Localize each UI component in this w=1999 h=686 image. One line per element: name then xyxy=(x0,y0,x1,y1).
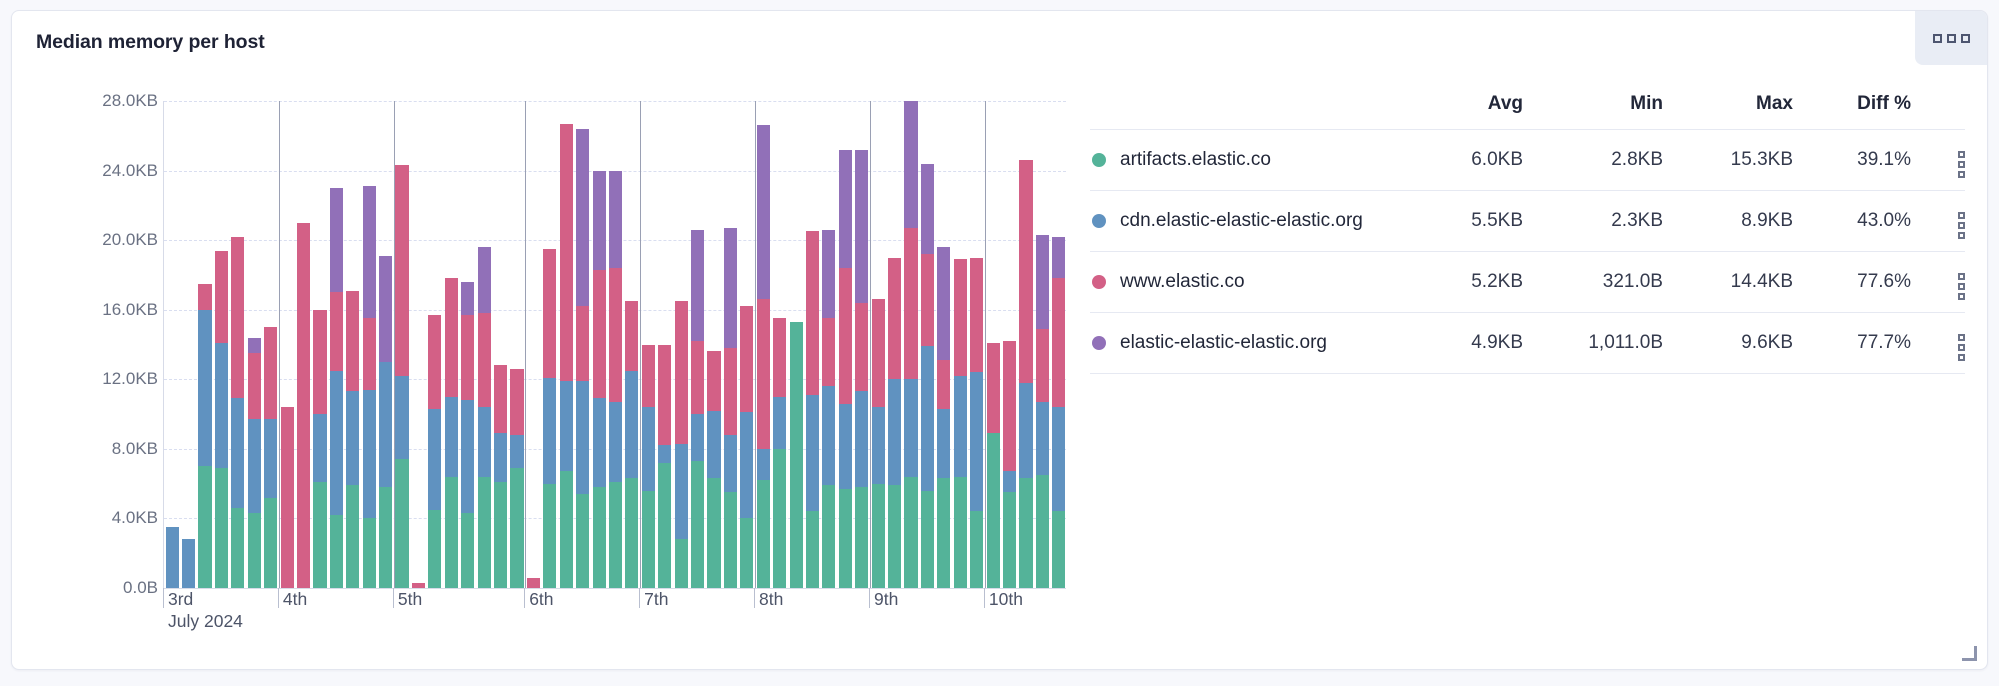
legend-cell-diff: 39.1% xyxy=(1793,130,1911,191)
bar-segment xyxy=(609,402,622,482)
panel-header: Median memory per host xyxy=(12,11,1987,69)
bar-segment xyxy=(576,494,589,588)
bar-segment xyxy=(494,365,507,433)
bar-segment xyxy=(379,256,392,362)
bar-segment xyxy=(724,492,737,588)
table-row[interactable]: cdn.elastic-elastic-elastic.org5.5KB2.3K… xyxy=(1090,191,1965,252)
bar-segment xyxy=(395,376,408,459)
chart-bar[interactable] xyxy=(707,351,720,588)
bar-segment xyxy=(855,391,868,487)
plot-canvas[interactable] xyxy=(163,101,1066,588)
bar-segment xyxy=(904,379,917,476)
chart-bar[interactable] xyxy=(1003,341,1016,588)
y-axis-tick-label: 8.0KB xyxy=(40,439,158,459)
legend-cell-avg: 5.5KB xyxy=(1405,191,1523,252)
x-axis-tick-label: 3rd xyxy=(168,589,193,610)
bar-segment xyxy=(1019,478,1032,588)
chart-bar[interactable] xyxy=(888,258,901,588)
bar-segment xyxy=(346,391,359,485)
bar-segment xyxy=(888,485,901,588)
bar-segment xyxy=(445,477,458,588)
bar-segment xyxy=(987,433,1000,588)
x-axis-sublabel: July 2024 xyxy=(168,611,243,632)
chart-bar[interactable] xyxy=(264,327,277,588)
bar-segment xyxy=(478,407,491,477)
chart-bar[interactable] xyxy=(855,150,868,588)
chart-bar[interactable] xyxy=(313,310,326,588)
bar-segment xyxy=(1003,471,1016,492)
day-separator xyxy=(755,101,756,588)
series-color-dot xyxy=(1092,153,1106,167)
bar-segment xyxy=(773,397,786,449)
bar-segment xyxy=(691,230,704,341)
legend-cell-min: 2.8KB xyxy=(1523,130,1663,191)
chart-bar[interactable] xyxy=(658,345,671,589)
chart-bar[interactable] xyxy=(166,527,179,588)
bar-segment xyxy=(1036,329,1049,402)
chart-bar[interactable] xyxy=(461,282,474,588)
bar-segment xyxy=(970,511,983,588)
bar-segment xyxy=(937,409,950,479)
y-axis-tick-label: 12.0KB xyxy=(40,369,158,389)
chart-bar[interactable] xyxy=(363,186,376,588)
bar-segment xyxy=(593,270,606,399)
chart-bar[interactable] xyxy=(724,228,737,588)
chart-bar[interactable] xyxy=(1052,237,1065,588)
bar-segment xyxy=(757,449,770,480)
bar-segment xyxy=(642,491,655,588)
bar-segment xyxy=(675,444,688,540)
legend-cell-max: 8.9KB xyxy=(1663,191,1793,252)
series-label: cdn.elastic-elastic-elastic.org xyxy=(1120,210,1363,232)
bar-segment xyxy=(609,482,622,588)
bar-segment xyxy=(707,411,720,479)
bar-segment xyxy=(970,372,983,511)
bar-segment xyxy=(182,539,195,588)
chart-bar[interactable] xyxy=(642,345,655,589)
bar-segment xyxy=(445,278,458,396)
legend-cell-max: 9.6KB xyxy=(1663,313,1793,374)
chart-bar[interactable] xyxy=(625,301,638,588)
chart-bar[interactable] xyxy=(215,251,228,588)
bar-segment xyxy=(609,268,622,402)
bar-segment xyxy=(954,477,967,588)
bar-segment xyxy=(757,125,770,299)
day-separator xyxy=(640,101,641,588)
bar-segment xyxy=(576,306,589,381)
legend-cell-actions[interactable] xyxy=(1911,130,1965,191)
bar-segment xyxy=(379,362,392,487)
bar-segment xyxy=(872,407,885,484)
chart-bar[interactable] xyxy=(297,223,310,588)
bar-segment xyxy=(888,379,901,485)
chart-bar[interactable] xyxy=(182,539,195,588)
dashboard-panel: Median memory per host 0.0B4.0KB8.0KB12.… xyxy=(11,10,1988,670)
legend-header-min[interactable]: Min xyxy=(1523,93,1663,130)
bar-segment xyxy=(855,487,868,588)
chart-bar[interactable] xyxy=(904,101,917,588)
bar-segment xyxy=(281,407,294,588)
chart-bar[interactable] xyxy=(248,338,261,588)
legend-header-row: Avg Min Max Diff % xyxy=(1090,93,1965,130)
bar-segment xyxy=(937,478,950,588)
chart-bar[interactable] xyxy=(806,231,819,588)
table-row[interactable]: artifacts.elastic.co6.0KB2.8KB15.3KB39.1… xyxy=(1090,130,1965,191)
bar-segment xyxy=(987,343,1000,433)
y-axis-tick-label: 24.0KB xyxy=(40,161,158,181)
bar-segment xyxy=(970,258,983,373)
chart-bar[interactable] xyxy=(872,299,885,588)
legend-header-max[interactable]: Max xyxy=(1663,93,1793,130)
bar-segment xyxy=(215,251,228,343)
day-separator xyxy=(394,101,395,588)
bar-segment xyxy=(1036,475,1049,588)
bar-segment xyxy=(198,466,211,588)
bar-segment xyxy=(921,491,934,588)
bar-segment xyxy=(740,306,753,412)
bar-segment xyxy=(822,485,835,588)
bar-segment xyxy=(510,435,523,468)
bar-segment xyxy=(461,400,474,513)
legend-cell-max: 14.4KB xyxy=(1663,252,1793,313)
legend-cell-avg: 4.9KB xyxy=(1405,313,1523,374)
bar-segment xyxy=(806,395,819,512)
bar-segment xyxy=(248,419,261,513)
row-menu-icon[interactable] xyxy=(1934,212,1965,239)
bar-segment xyxy=(855,150,868,303)
bar-segment xyxy=(428,510,441,588)
x-axis-tick-label: 6th xyxy=(529,589,553,610)
bar-segment xyxy=(904,228,917,379)
drag-grid-icon[interactable] xyxy=(1915,11,1987,65)
chart-bar[interactable] xyxy=(1019,160,1032,588)
bar-segment xyxy=(560,471,573,588)
bar-segment xyxy=(921,164,934,254)
bar-segment xyxy=(593,171,606,270)
bar-segment xyxy=(904,477,917,588)
series-label: elastic-elastic-elastic.org xyxy=(1120,332,1327,354)
resize-corner-icon[interactable] xyxy=(1962,646,1978,662)
bar-segment xyxy=(1052,511,1065,588)
x-axis-tick-label: 5th xyxy=(398,589,422,610)
series-label: www.elastic.co xyxy=(1120,271,1245,293)
bar-segment xyxy=(1019,383,1032,479)
bar-segment xyxy=(297,223,310,588)
bar-segment xyxy=(231,398,244,508)
bar-segment xyxy=(478,313,491,407)
bar-segment xyxy=(576,381,589,494)
bar-segment xyxy=(543,378,556,484)
chart-bar[interactable] xyxy=(773,318,786,588)
bar-segment xyxy=(231,237,244,399)
chart-bar[interactable] xyxy=(231,237,244,588)
chart-bar[interactable] xyxy=(954,259,967,588)
bar-segment xyxy=(658,345,671,446)
legend-cell-diff: 43.0% xyxy=(1793,191,1911,252)
x-tick-mark xyxy=(393,588,394,608)
bar-segment xyxy=(494,482,507,588)
bar-segment xyxy=(248,513,261,588)
bar-segment xyxy=(675,539,688,588)
bar-segment xyxy=(691,341,704,414)
bar-segment xyxy=(691,414,704,461)
chart-bar[interactable] xyxy=(987,343,1000,588)
bar-segment xyxy=(872,299,885,407)
legend-cell-min: 1,011.0B xyxy=(1523,313,1663,374)
legend-cell-actions[interactable] xyxy=(1911,313,1965,374)
bar-segment xyxy=(740,412,753,518)
bar-segment xyxy=(593,398,606,487)
day-separator xyxy=(985,101,986,588)
bar-segment xyxy=(478,477,491,588)
bar-segment xyxy=(658,463,671,588)
bar-segment xyxy=(166,527,179,588)
bar-segment xyxy=(822,230,835,319)
y-axis-tick-label: 4.0KB xyxy=(40,508,158,528)
bar-segment xyxy=(428,315,441,409)
x-axis-tick-label: 7th xyxy=(644,589,668,610)
chart-bar[interactable] xyxy=(675,301,688,588)
chart-bar[interactable] xyxy=(593,171,606,588)
bar-segment xyxy=(379,487,392,588)
bar-segment xyxy=(773,318,786,396)
drag-square-1 xyxy=(1933,34,1942,43)
legend-header-avg[interactable]: Avg xyxy=(1405,93,1523,130)
drag-square-3 xyxy=(1961,34,1970,43)
y-axis-tick-label: 16.0KB xyxy=(40,300,158,320)
chart-bar[interactable] xyxy=(757,125,770,588)
bar-segment xyxy=(1036,235,1049,329)
bar-segment xyxy=(363,390,376,519)
row-menu-icon[interactable] xyxy=(1934,151,1965,178)
bar-segment xyxy=(215,343,228,468)
bar-segment xyxy=(395,459,408,588)
bar-segment xyxy=(822,318,835,386)
day-separator xyxy=(525,101,526,588)
bar-segment xyxy=(428,409,441,510)
bar-segment xyxy=(707,478,720,588)
chart-bar[interactable] xyxy=(822,230,835,588)
bar-segment xyxy=(248,338,261,354)
x-axis: July 2024 3rd4th5th6th7th8th9th10th xyxy=(163,588,1066,634)
chart-area: 0.0B4.0KB8.0KB12.0KB16.0KB20.0KB24.0KB28… xyxy=(36,73,1066,633)
row-menu-icon[interactable] xyxy=(1934,273,1965,300)
bar-segment xyxy=(264,498,277,588)
day-separator xyxy=(279,101,280,588)
bar-segment xyxy=(248,353,261,419)
bar-segment xyxy=(363,518,376,588)
chart-bar[interactable] xyxy=(1036,235,1049,588)
bar-segment xyxy=(1036,402,1049,475)
x-tick-mark xyxy=(278,588,279,608)
bar-segment xyxy=(921,346,934,490)
bar-segment xyxy=(313,310,326,414)
bar-segment xyxy=(560,381,573,471)
bar-segment xyxy=(543,249,556,378)
chart-bar[interactable] xyxy=(970,258,983,588)
chart-bar[interactable] xyxy=(395,165,408,588)
x-tick-mark xyxy=(984,588,985,608)
bar-segment xyxy=(313,414,326,482)
bar-segment xyxy=(330,292,343,370)
table-row[interactable]: elastic-elastic-elastic.org4.9KB1,011.0B… xyxy=(1090,313,1965,374)
bar-segment xyxy=(625,371,638,479)
legend-series-name[interactable]: artifacts.elastic.co xyxy=(1090,130,1405,191)
chart-bar[interactable] xyxy=(330,188,343,588)
bar-segment xyxy=(330,188,343,292)
bar-segment xyxy=(839,489,852,588)
legend-cell-actions[interactable] xyxy=(1911,191,1965,252)
chart-bar[interactable] xyxy=(198,284,211,588)
y-axis-tick-label: 28.0KB xyxy=(40,91,158,111)
chart-bar[interactable] xyxy=(445,278,458,588)
bar-segment xyxy=(576,129,589,306)
bar-segment xyxy=(642,407,655,490)
bar-segment xyxy=(1052,278,1065,407)
bar-segment xyxy=(198,310,211,467)
bar-segment xyxy=(822,386,835,485)
chart-bar[interactable] xyxy=(281,407,294,588)
bar-segment xyxy=(510,468,523,588)
y-axis: 0.0B4.0KB8.0KB12.0KB16.0KB20.0KB24.0KB28… xyxy=(36,101,158,588)
bar-segment xyxy=(806,511,819,588)
x-tick-mark xyxy=(639,588,640,608)
bar-segment xyxy=(346,485,359,588)
legend-table: Avg Min Max Diff % artifacts.elastic.co6… xyxy=(1090,93,1965,374)
legend-cell-min: 2.3KB xyxy=(1523,191,1663,252)
chart-bar[interactable] xyxy=(691,230,704,588)
page-title: Median memory per host xyxy=(36,31,265,54)
bar-segment xyxy=(346,291,359,392)
table-row[interactable]: www.elastic.co5.2KB321.0B14.4KB77.6% xyxy=(1090,252,1965,313)
bar-segment xyxy=(757,480,770,588)
bar-segment xyxy=(1003,492,1016,588)
bar-segment xyxy=(773,449,786,588)
bar-segment xyxy=(363,318,376,389)
chart-bar[interactable] xyxy=(543,249,556,588)
bar-segment xyxy=(888,258,901,380)
bar-segment xyxy=(724,348,737,435)
chart-bar[interactable] xyxy=(527,578,540,588)
chart-bar[interactable] xyxy=(478,247,491,588)
series-color-dot xyxy=(1092,336,1106,350)
bar-segment xyxy=(593,487,606,588)
bar-segment xyxy=(363,186,376,318)
chart-bar[interactable] xyxy=(494,365,507,588)
drag-square-2 xyxy=(1947,34,1956,43)
chart-bar[interactable] xyxy=(379,256,392,588)
row-menu-icon[interactable] xyxy=(1934,334,1965,361)
chart-bar[interactable] xyxy=(839,150,852,588)
bar-segment xyxy=(1003,341,1016,471)
x-axis-tick-label: 4th xyxy=(283,589,307,610)
bar-segment xyxy=(609,171,622,268)
bar-segment xyxy=(757,299,770,449)
bar-segment xyxy=(1052,237,1065,279)
chart-bar[interactable] xyxy=(740,306,753,588)
bar-segment xyxy=(1019,160,1032,383)
x-axis-tick-label: 9th xyxy=(874,589,898,610)
bar-segment xyxy=(313,482,326,588)
bar-segment xyxy=(675,301,688,444)
y-axis-tick-label: 20.0KB xyxy=(40,230,158,250)
bar-segment xyxy=(937,360,950,409)
bar-segment xyxy=(839,268,852,404)
bar-segment xyxy=(264,419,277,497)
bar-segment xyxy=(543,484,556,588)
bar-segment xyxy=(954,259,967,376)
legend-cell-avg: 6.0KB xyxy=(1405,130,1523,191)
legend-header-actions xyxy=(1911,93,1965,130)
bar-segment xyxy=(461,513,474,588)
bar-segment xyxy=(691,461,704,588)
chart-bar[interactable] xyxy=(346,291,359,588)
bar-segment xyxy=(527,578,540,588)
bar-segment xyxy=(264,327,277,419)
bar-segment xyxy=(395,165,408,375)
bar-segment xyxy=(1052,407,1065,511)
chart-bar[interactable] xyxy=(428,315,441,588)
bar-segment xyxy=(461,315,474,400)
legend-cell-actions[interactable] xyxy=(1911,252,1965,313)
chart-bar[interactable] xyxy=(576,129,589,588)
legend-cell-min: 321.0B xyxy=(1523,252,1663,313)
bar-segment xyxy=(839,404,852,489)
bar-segment xyxy=(560,124,573,381)
bar-segment xyxy=(625,301,638,371)
legend-series-name[interactable]: www.elastic.co xyxy=(1090,252,1405,313)
bar-segment xyxy=(954,376,967,477)
legend-series-name[interactable]: cdn.elastic-elastic-elastic.org xyxy=(1090,191,1405,252)
legend-cell-max: 15.3KB xyxy=(1663,130,1793,191)
gridline xyxy=(164,101,1066,102)
bar-segment xyxy=(658,445,671,462)
day-separator xyxy=(870,101,871,588)
series-color-dot xyxy=(1092,275,1106,289)
series-label: artifacts.elastic.co xyxy=(1120,149,1271,171)
x-tick-mark xyxy=(163,588,164,608)
bar-segment xyxy=(724,228,737,348)
x-axis-tick-label: 10th xyxy=(989,589,1023,610)
bar-segment xyxy=(445,397,458,477)
bar-segment xyxy=(330,371,343,515)
legend-cell-diff: 77.7% xyxy=(1793,313,1911,374)
bar-segment xyxy=(494,433,507,482)
chart-bar[interactable] xyxy=(921,164,934,588)
bar-segment xyxy=(215,468,228,588)
x-axis-tick-label: 8th xyxy=(759,589,783,610)
x-tick-mark xyxy=(524,588,525,608)
chart-bar[interactable] xyxy=(609,171,622,588)
legend-series-name[interactable]: elastic-elastic-elastic.org xyxy=(1090,313,1405,374)
bar-segment xyxy=(625,478,638,588)
bar-segment xyxy=(510,369,523,435)
chart-bar[interactable] xyxy=(560,124,573,588)
bar-segment xyxy=(904,101,917,228)
bar-segment xyxy=(198,284,211,310)
legend-cell-avg: 5.2KB xyxy=(1405,252,1523,313)
chart-bar[interactable] xyxy=(790,322,803,588)
x-tick-mark xyxy=(869,588,870,608)
bar-segment xyxy=(806,231,819,394)
chart-bar[interactable] xyxy=(510,369,523,588)
bar-segment xyxy=(330,515,343,588)
chart-bar[interactable] xyxy=(937,247,950,588)
y-axis-tick-label: 0.0B xyxy=(40,578,158,598)
x-tick-mark xyxy=(754,588,755,608)
legend-header-diff[interactable]: Diff % xyxy=(1793,93,1911,130)
bar-segment xyxy=(642,345,655,408)
